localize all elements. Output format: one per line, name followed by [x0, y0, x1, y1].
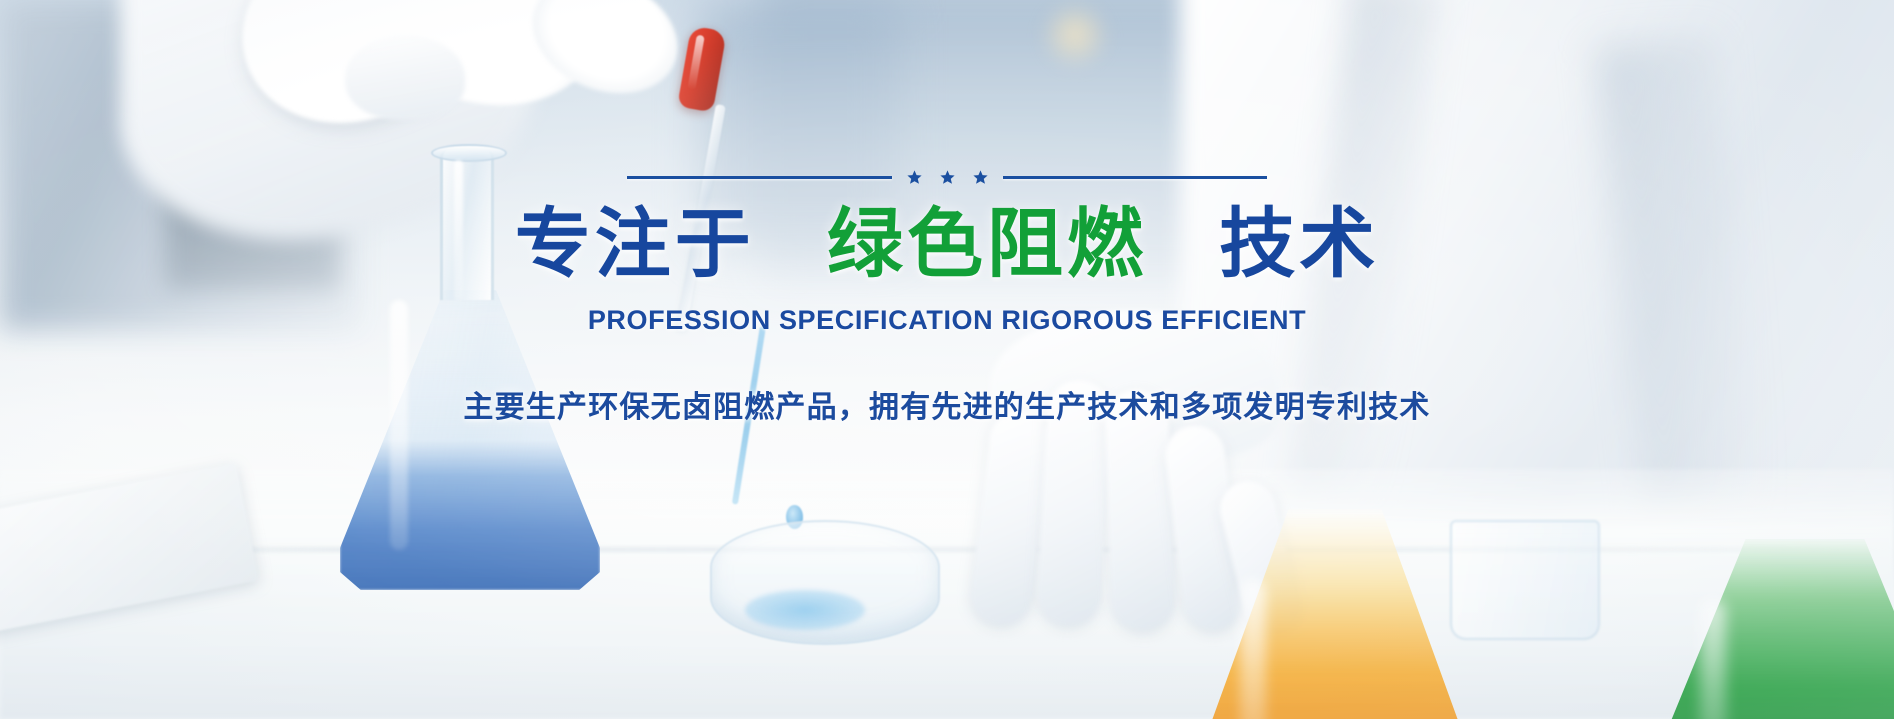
headline-part-3: 技术 — [1219, 202, 1379, 287]
hero-banner: 专注于 绿色阻燃 技术 PROFESSION SPECIFICATION RIG… — [0, 0, 1894, 719]
star-icon — [972, 169, 989, 186]
star-group — [906, 169, 989, 186]
star-icon — [906, 169, 923, 186]
divider-with-stars — [627, 168, 1267, 186]
subline: PROFESSION SPECIFICATION RIGOROUS EFFICI… — [588, 305, 1306, 336]
headline-part-2: 绿色阻燃 — [827, 202, 1147, 287]
star-icon — [939, 169, 956, 186]
divider-line-right — [1003, 176, 1268, 179]
banner-text-overlay: 专注于 绿色阻燃 技术 PROFESSION SPECIFICATION RIG… — [0, 0, 1894, 719]
tagline: 主要生产环保无卤阻燃产品，拥有先进的生产技术和多项发明专利技术 — [463, 382, 1430, 426]
headline: 专注于 绿色阻燃 技术 — [515, 202, 1380, 287]
divider-line-left — [627, 176, 892, 179]
headline-part-1: 专注于 — [515, 202, 755, 287]
